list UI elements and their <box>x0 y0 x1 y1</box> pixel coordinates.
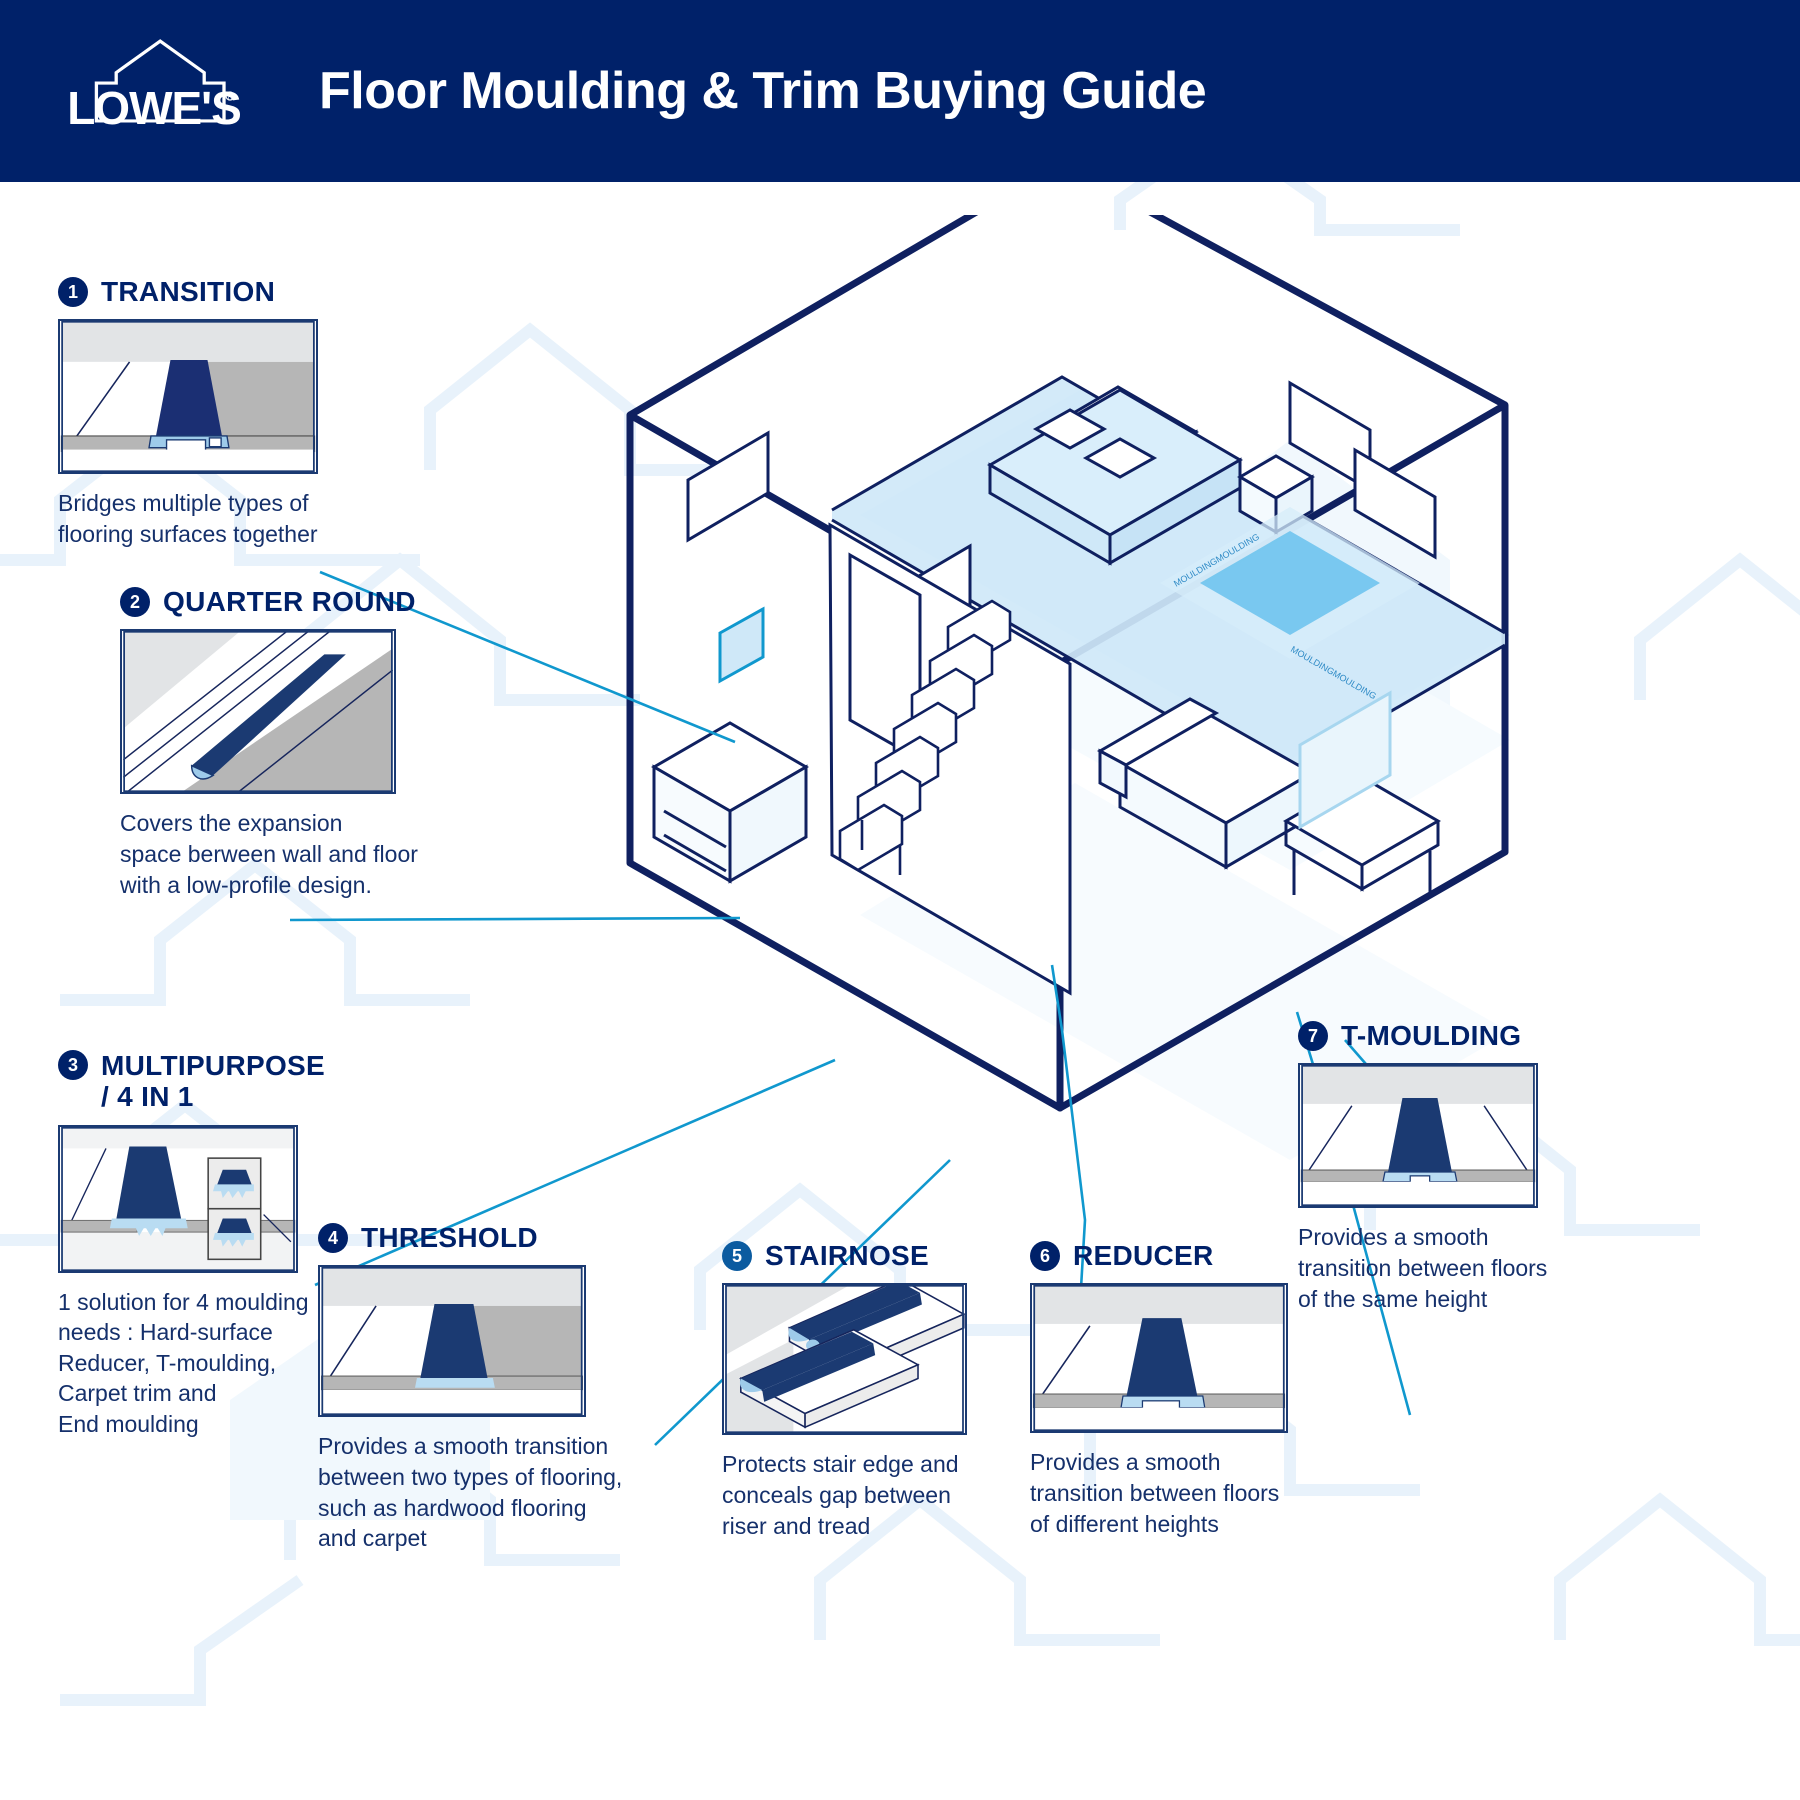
callout-title: TRANSITION <box>101 276 275 307</box>
lowes-logo: LOWE'S R <box>52 34 257 149</box>
callout-caption: Bridges multiple types of flooring surfa… <box>58 488 418 549</box>
callout-quarter-round: 2 QUARTER ROUND Covers the expansion spa… <box>120 586 500 900</box>
callout-header: 5 STAIRNOSE <box>722 1240 1012 1271</box>
callout-caption: Protects stair edge and conceals gap bet… <box>722 1449 1012 1541</box>
callout-title: MULTIPURPOSE / 4 IN 1 <box>101 1050 325 1113</box>
multipurpose-profile-diagram <box>58 1125 298 1273</box>
callout-caption: Provides a smooth transition between flo… <box>1030 1447 1320 1539</box>
callout-caption: Provides a smooth transition between flo… <box>1298 1222 1598 1314</box>
callout-header: 2 QUARTER ROUND <box>120 586 500 617</box>
callout-caption: Covers the expansion space berween wall … <box>120 808 500 900</box>
callout-title: QUARTER ROUND <box>163 586 416 617</box>
callout-transition: 1 TRANSITION Bridges multiple types of f… <box>58 276 418 550</box>
badge-number: 1 <box>58 277 88 307</box>
callout-title: T-MOULDING <box>1341 1020 1521 1051</box>
badge-number: 6 <box>1030 1241 1060 1271</box>
reducer-profile-diagram <box>1030 1283 1288 1433</box>
stairnose-diagram <box>722 1283 967 1435</box>
callout-reducer: 6 REDUCER Provides a smooth transition b… <box>1030 1240 1320 1539</box>
badge-number: 2 <box>120 587 150 617</box>
callout-header: 1 TRANSITION <box>58 276 418 307</box>
callout-header: 4 THRESHOLD <box>318 1222 698 1253</box>
callout-header: 3 MULTIPURPOSE / 4 IN 1 <box>58 1050 388 1113</box>
transition-profile-diagram <box>58 319 318 474</box>
svg-text:R: R <box>228 95 233 101</box>
page-header: LOWE'S R Floor Moulding & Trim Buying Gu… <box>0 0 1800 182</box>
badge-number: 3 <box>58 1050 88 1080</box>
logo-wordmark: LOWE'S <box>67 82 241 134</box>
callout-caption: Provides a smooth transition between two… <box>318 1431 698 1553</box>
badge-number: 4 <box>318 1223 348 1253</box>
threshold-profile-diagram <box>318 1265 586 1417</box>
quarter-round-diagram <box>120 629 396 794</box>
callout-stairnose: 5 STAIRNOSE <box>722 1240 1012 1541</box>
callout-title: STAIRNOSE <box>765 1240 929 1271</box>
callout-header: 6 REDUCER <box>1030 1240 1320 1271</box>
callout-threshold: 4 THRESHOLD Provides a smooth transition… <box>318 1222 698 1554</box>
callout-header: 7 T-MOULDING <box>1298 1020 1598 1051</box>
badge-number: 7 <box>1298 1021 1328 1051</box>
callout-title: THRESHOLD <box>361 1222 538 1253</box>
page-title: Floor Moulding & Trim Buying Guide <box>319 61 1206 121</box>
badge-number: 5 <box>722 1241 752 1271</box>
t-moulding-profile-diagram <box>1298 1063 1538 1208</box>
callout-title: REDUCER <box>1073 1240 1214 1271</box>
callout-t-moulding: 7 T-MOULDING Provides a smooth transitio… <box>1298 1020 1598 1314</box>
